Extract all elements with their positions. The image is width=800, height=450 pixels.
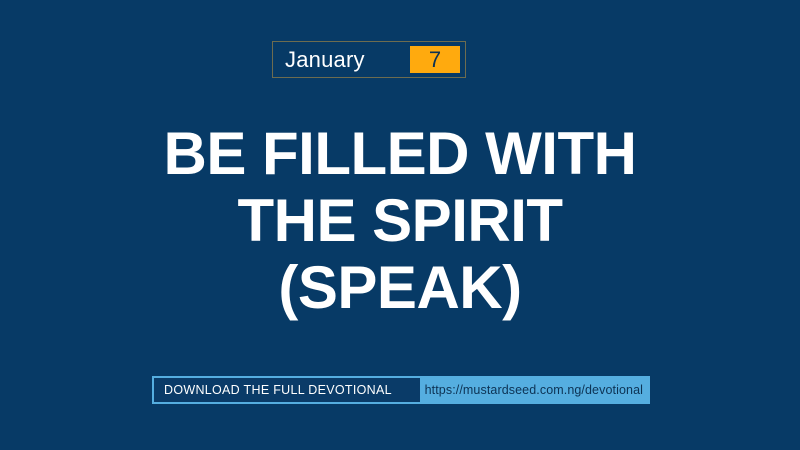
slide-canvas: January 7 BE FILLED WITH THE SPIRIT (SPE… [0, 0, 800, 450]
date-badge: January 7 [272, 41, 466, 78]
headline-title: BE FILLED WITH THE SPIRIT (SPEAK) [0, 120, 800, 322]
headline-line-1: BE FILLED WITH [0, 120, 800, 187]
download-devotional-bar[interactable]: DOWNLOAD THE FULL DEVOTIONAL https://mus… [152, 376, 650, 404]
day-box: 7 [410, 46, 460, 73]
day-number: 7 [429, 49, 441, 71]
download-devotional-label: DOWNLOAD THE FULL DEVOTIONAL [154, 378, 402, 402]
devotional-url-chip[interactable]: https://mustardseed.com.ng/devotional [419, 378, 648, 402]
headline-line-2: THE SPIRIT [0, 187, 800, 254]
headline-line-3: (SPEAK) [0, 254, 800, 321]
month-label: January [273, 42, 365, 77]
devotional-url-text: https://mustardseed.com.ng/devotional [425, 383, 643, 397]
